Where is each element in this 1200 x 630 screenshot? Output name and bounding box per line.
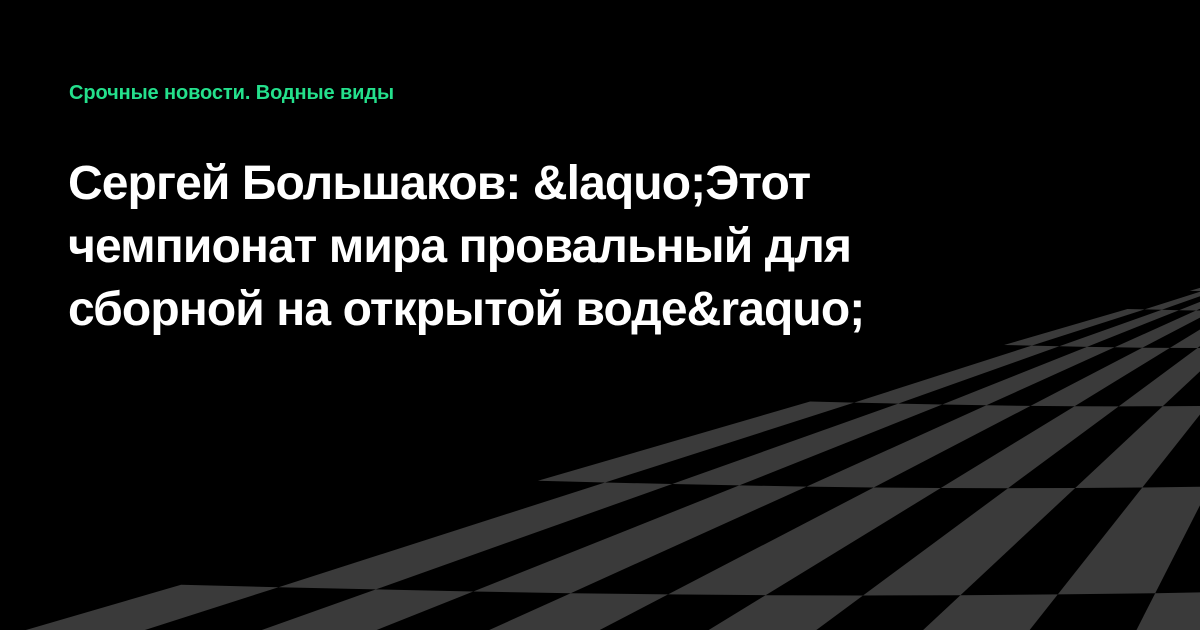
headline-line-3: сборной на открытой воде&raquo;	[68, 278, 948, 341]
page-title: Сергей Большаков: &laquo;Этот чемпионат …	[68, 152, 948, 341]
share-card: Срочные новости. Водные виды Сергей Боль…	[0, 0, 1200, 630]
headline-line-1: Сергей Большаков: &laquo;Этот	[68, 152, 948, 215]
headline-line-2: чемпионат мира провальный для	[68, 215, 948, 278]
category-kicker[interactable]: Срочные новости. Водные виды	[69, 80, 394, 106]
